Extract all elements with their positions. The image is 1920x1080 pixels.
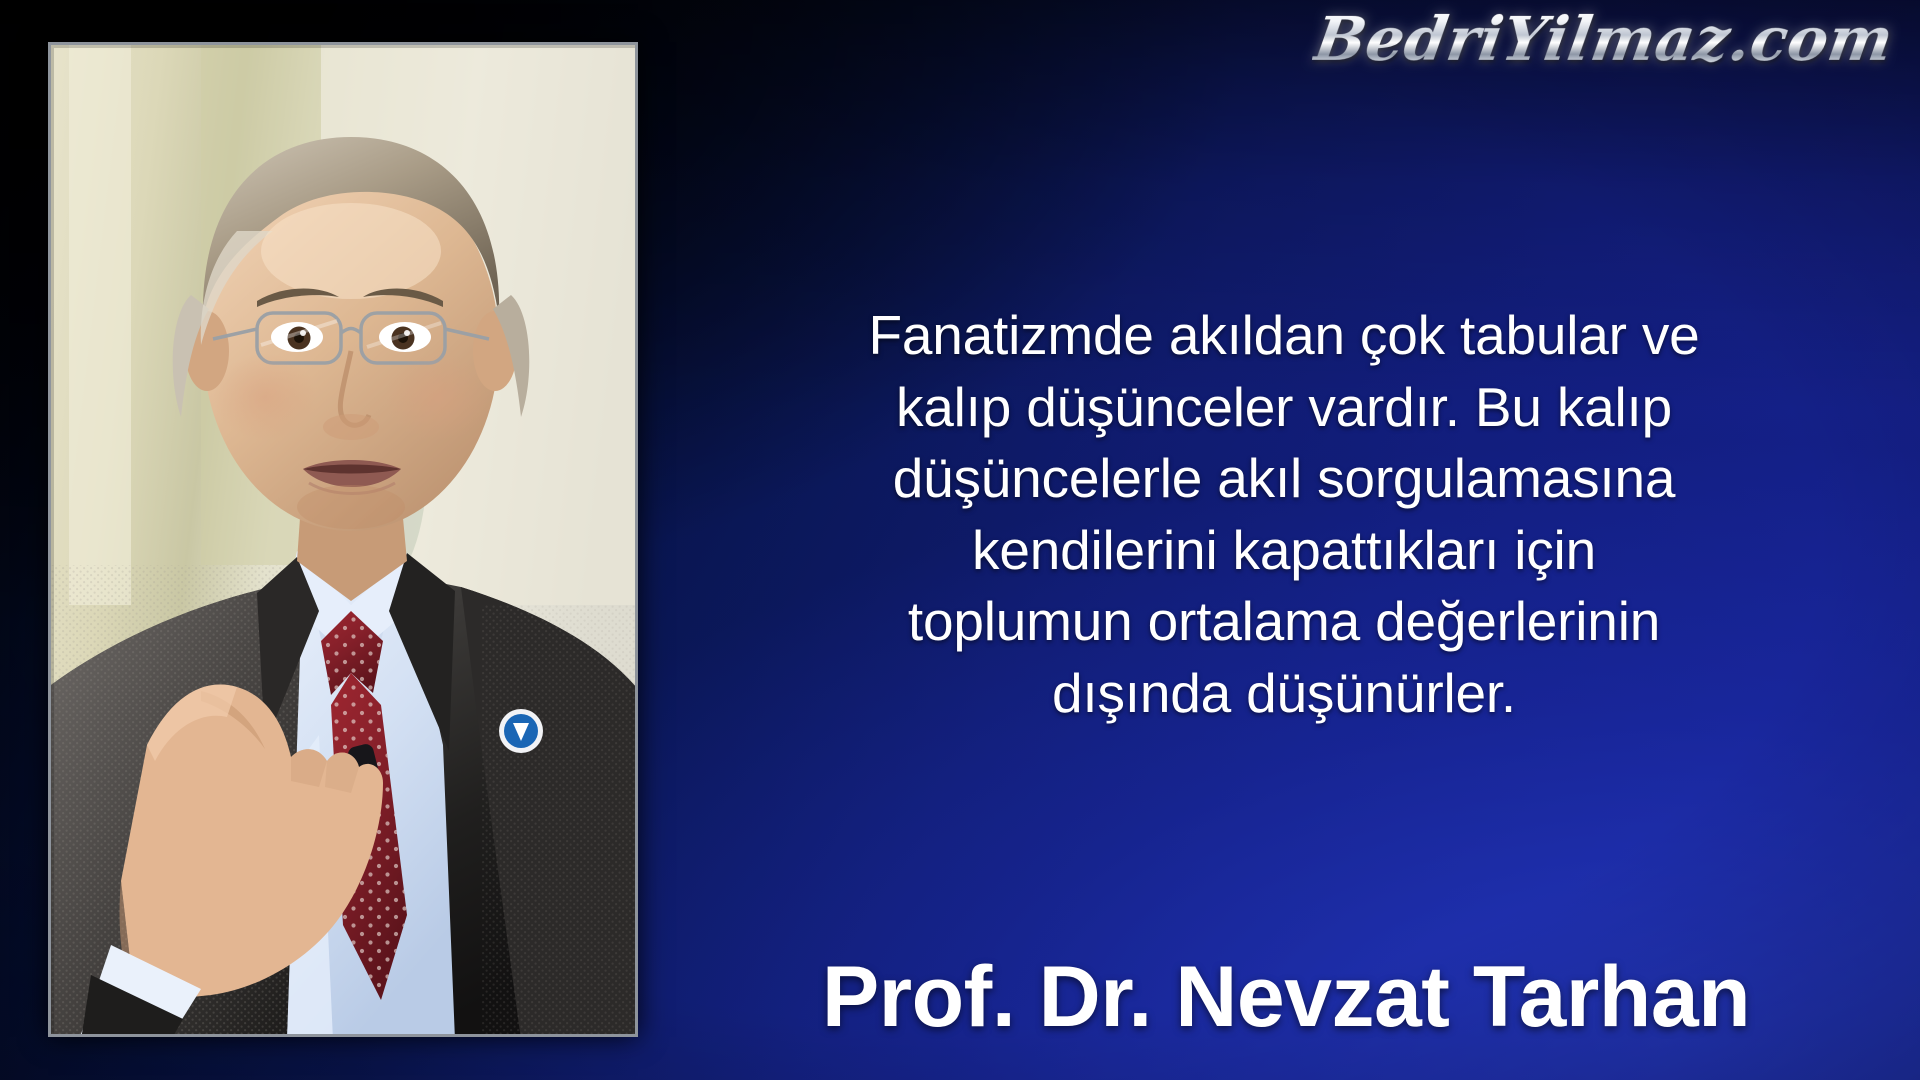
portrait-frame (48, 42, 638, 1037)
site-watermark: BedriYilmaz.com (1309, 6, 1897, 75)
quote-line: toplumun ortalama değerlerinin (668, 586, 1900, 658)
quote-line: Fanatizmde akıldan çok tabular ve (668, 300, 1900, 372)
quote-poster: BedriYilmaz.com (0, 0, 1920, 1080)
portrait-illustration (51, 45, 635, 1034)
author-name: Prof. Dr. Nevzat Tarhan (668, 952, 1904, 1042)
quote-line: kendilerini kapattıkları için (668, 515, 1900, 587)
quote-line: düşüncelerle akıl sorgulamasına (668, 443, 1900, 515)
quote-text: Fanatizmde akıldan çok tabular ve kalıp … (668, 300, 1900, 729)
quote-line: kalıp düşünceler vardır. Bu kalıp (668, 372, 1900, 444)
portrait-photo (51, 45, 635, 1034)
quote-line: dışında düşünürler. (668, 658, 1900, 730)
